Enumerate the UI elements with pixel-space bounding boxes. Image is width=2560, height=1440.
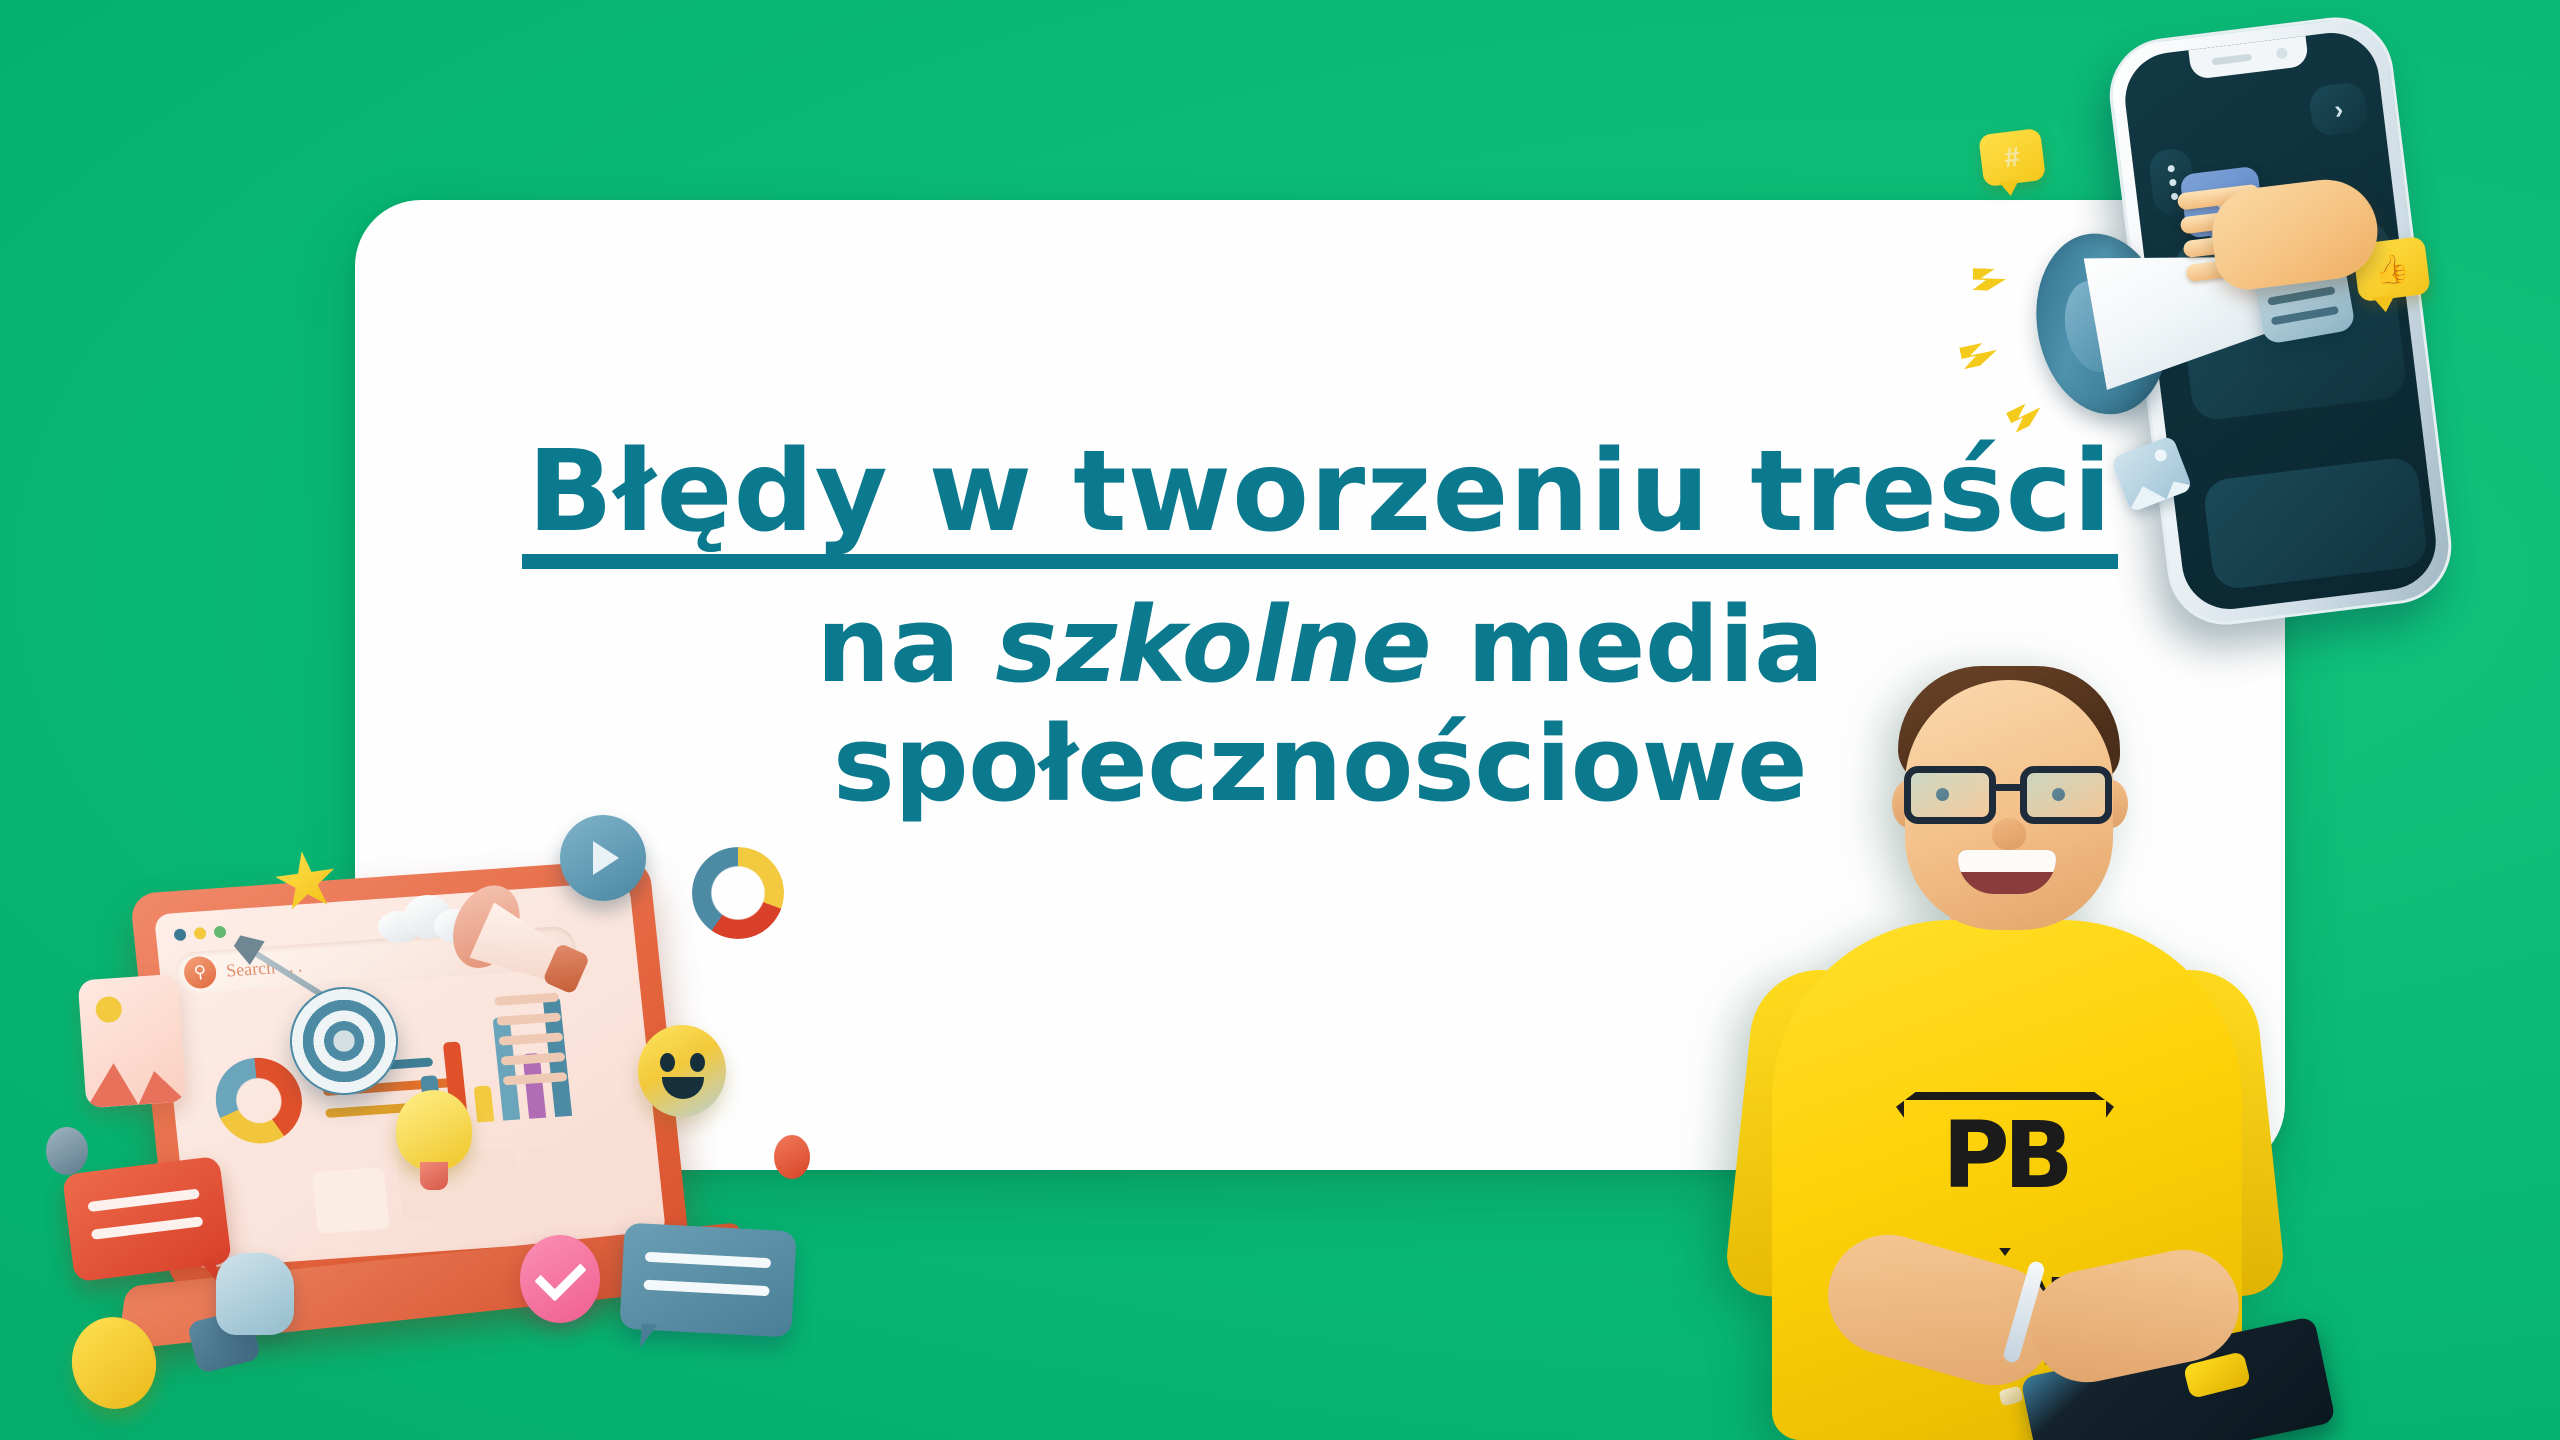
speech-bubble-icon [619,1223,796,1338]
smartphone-megaphone-illustration: › ♥ # 👍 [1948,0,2560,690]
play-button-icon [560,815,646,901]
chevron-right-icon: › [2308,81,2370,137]
screen-panel-bottom [2202,456,2429,591]
pebble-icon [46,1127,88,1175]
content-block [528,1139,653,1213]
donut-chart-icon [211,1055,306,1147]
search-icon: ⚲ [182,955,217,989]
browser-dots [173,926,226,942]
avatar [312,1167,390,1234]
nose [1992,818,2026,850]
lightbulb-icon [396,1090,472,1194]
shirt-logo-initials: PB [1896,1102,2114,1209]
presenter-photo: PB PAN BELFER [1700,640,2320,1440]
thumbs-up-icon [188,1243,308,1373]
smiley-icon [638,1025,726,1117]
shirt-logo: PB [1896,1092,2114,1256]
image-icon [78,974,187,1109]
slide-canvas: Błędy w tworzeniu treści na szkolne medi… [0,0,2560,1440]
donut-chart-icon [692,847,784,939]
hand-icon [2175,155,2389,308]
check-circle-icon [520,1235,600,1323]
chart-bar [492,1017,520,1121]
phone-notch [2188,36,2309,80]
dot-orange-icon [774,1135,810,1179]
chart-bar [474,1085,495,1122]
laptop-dashboard-illustration: ⚲ Search . . . [20,835,840,1395]
hashtag-icon: # [1978,128,2046,187]
